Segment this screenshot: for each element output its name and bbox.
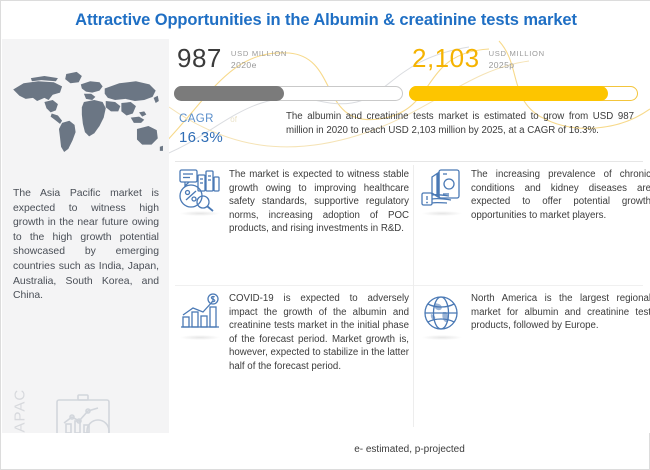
icon-shadow [180,211,220,216]
cagr-value: 16.3% [179,129,277,146]
infographic-frame: Attractive Opportunities in the Albumin … [0,0,650,470]
region-description: The Asia Pacific market is expected to w… [13,187,159,304]
page-title: Attractive Opportunities in the Albumin … [75,11,577,30]
insight-card-text: The increasing prevalence of chronic con… [471,167,650,222]
insight-card-market-growth: The market is expected to witness stable… [177,167,409,236]
icon-shadow [180,335,220,340]
insight-card-text: The market is expected to witness stable… [229,167,409,236]
cagr-label: CAGR [179,113,214,125]
insight-card-chronic-conditions: The increasing prevalence of chronic con… [419,167,650,222]
insight-card-text: COVID-19 is expected to adversely impact… [229,291,409,374]
stat-value-2020: 987 [177,43,222,73]
progress-bar-2020-fill [174,86,284,101]
stat-unit-2020: USD MILLION [231,49,287,59]
stat-year-2025: 2025p [489,59,545,71]
insight-card-text: North America is the largest regional ma… [471,291,650,333]
progress-bar-2025-fill [409,86,608,101]
cagr-of-label: of [230,115,237,124]
bar-growth-dollar-icon [177,291,223,337]
apac-watermark: APAC [12,373,29,433]
progress-bar-2020 [174,86,403,101]
market-analytics-icon [177,167,223,213]
cash-hand-icon [419,167,465,213]
progress-bar-2025 [409,86,638,101]
divider-top [175,161,643,162]
divider-middle [175,285,643,286]
stats-row: 987 USD MILLION 2020e 2,103 USD MILLION … [169,39,650,105]
left-region-panel: The Asia Pacific market is expected to w… [2,39,169,433]
chart-board-magnifier-icon [50,391,122,433]
world-map-icon [8,67,164,162]
stat-unit-2025: USD MILLION [489,49,545,59]
insight-card-north-america: North America is the largest regional ma… [419,291,650,337]
cagr-description: The albumin and creatinine tests market … [286,110,634,137]
divider-vertical [413,165,414,427]
cagr-box: CAGR of 16.3% [179,109,277,146]
main-content: 987 USD MILLION 2020e 2,103 USD MILLION … [169,39,650,433]
icon-shadow [422,211,462,216]
cagr-row: CAGR of 16.3% The albumin and creatinine… [169,109,650,157]
stat-value-2025: 2,103 [412,43,480,73]
insight-card-covid-impact: COVID-19 is expected to adversely impact… [177,291,409,374]
globe-icon [419,291,465,337]
stat-year-2020: 2020e [231,59,287,71]
footer-note: e- estimated, p-projected [169,435,650,463]
title-bar: Attractive Opportunities in the Albumin … [1,1,650,39]
icon-shadow [422,335,462,340]
